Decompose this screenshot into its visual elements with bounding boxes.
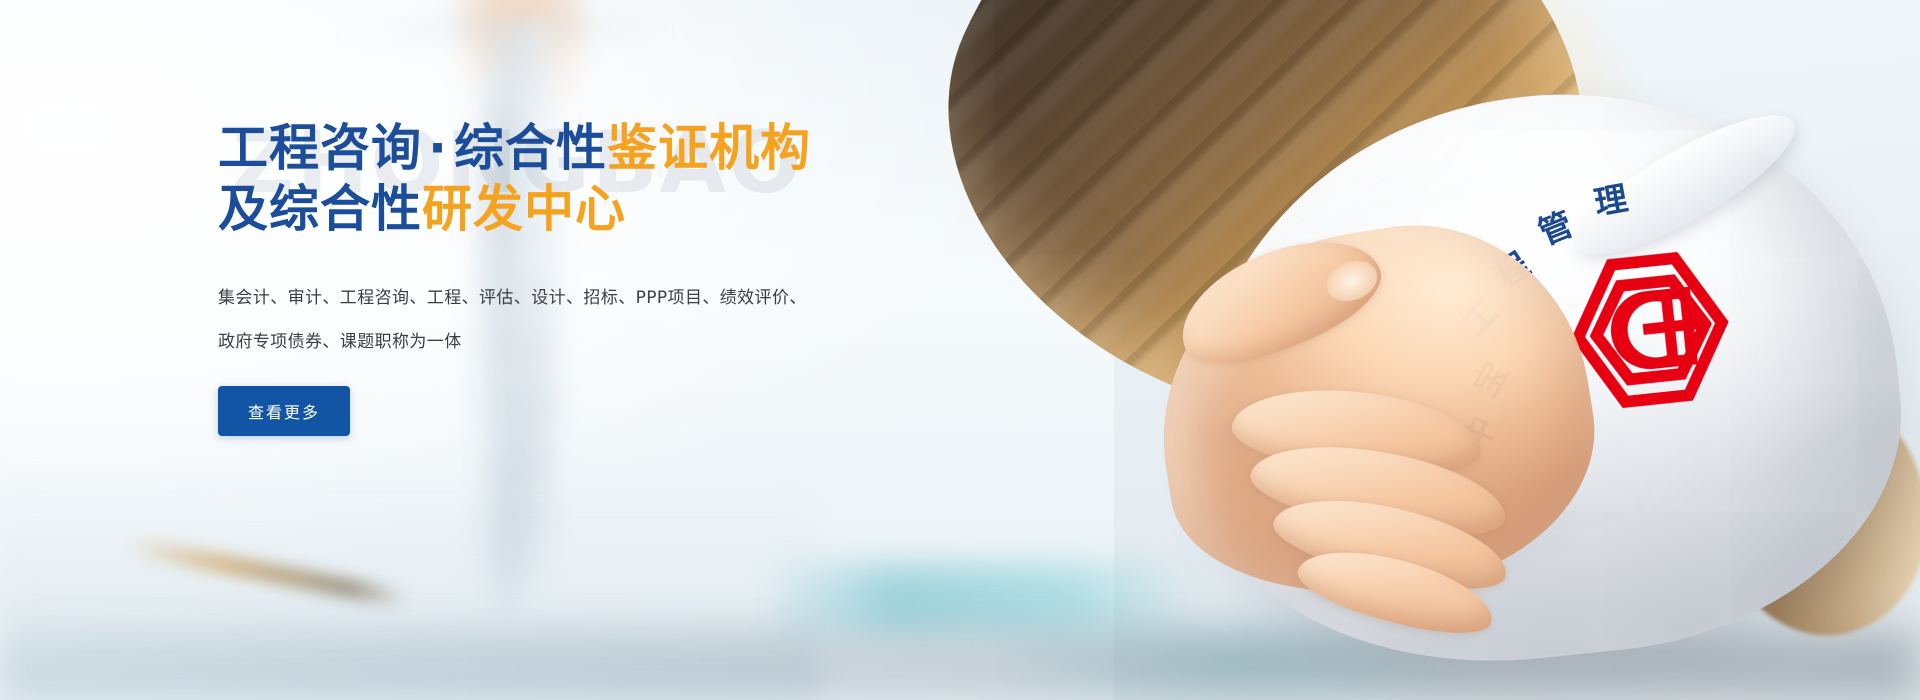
headline-line-2: 及综合性研发中心 [218, 179, 918, 240]
page-title: 工程咨询·综合性鉴证机构 及综合性研发中心 [218, 118, 918, 240]
helmet-brand-char: 管 [1530, 198, 1579, 255]
hero-banner: 中 宝 工 程 管 理 ZHONGBAO 工程咨询·综合性 [0, 0, 1920, 700]
hero-content: 工程咨询·综合性鉴证机构 及综合性研发中心 集会计、审计、工程咨询、工程、评估、… [218, 118, 918, 436]
description-line-1: 集会计、审计、工程咨询、工程、评估、设计、招标、PPP项目、绩效评价、 [218, 276, 918, 320]
headline-part-1: 工程咨询 [218, 119, 422, 177]
view-more-button[interactable]: 查看更多 [218, 386, 350, 436]
hero-description: 集会计、审计、工程咨询、工程、评估、设计、招标、PPP项目、绩效评价、 政府专项… [218, 276, 918, 364]
headline-accent-2: 研发中心 [422, 180, 626, 238]
headline-accent-1: 鉴证机构 [607, 119, 811, 177]
headline-part-3: 及综合性 [218, 180, 422, 238]
description-line-2: 政府专项债券、课题职称为一体 [218, 320, 918, 364]
background-teal-panel [760, 564, 1200, 634]
crane-rung [474, 460, 558, 465]
helmet-brand-char: 理 [1590, 171, 1631, 224]
headline-separator: · [422, 119, 454, 177]
headline-part-2: 综合性 [454, 119, 607, 177]
